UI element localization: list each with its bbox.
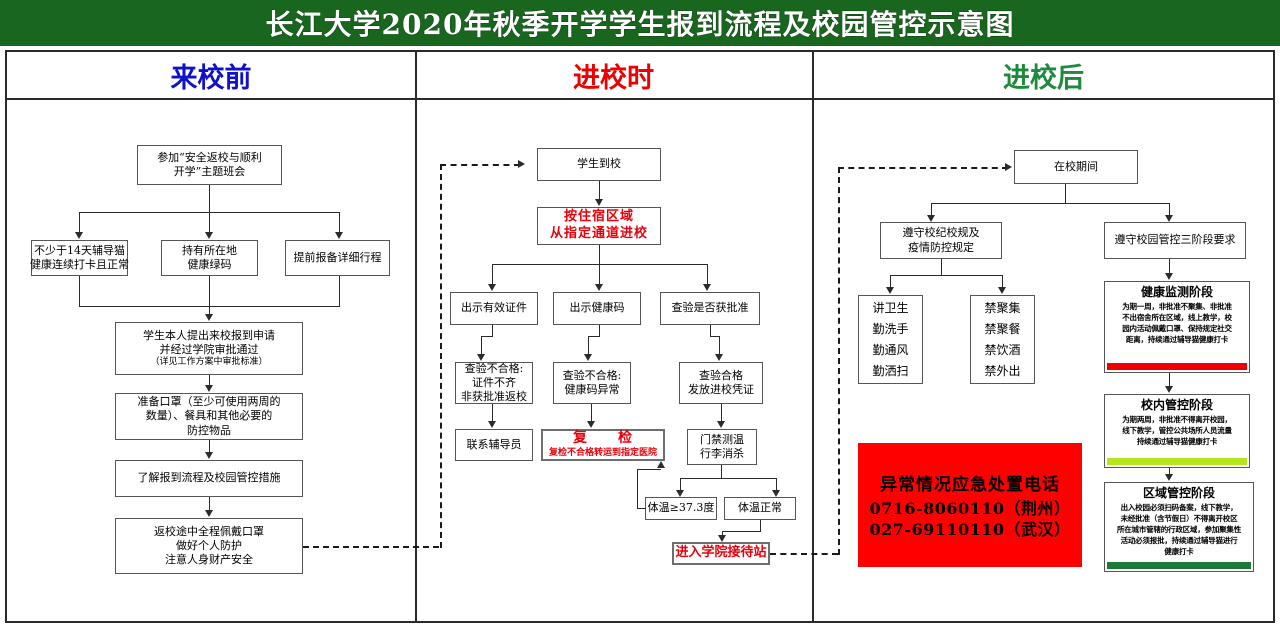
box-student-arrival: 学生到校 — [537, 148, 661, 181]
box-bans-list-line-1: 禁聚集 — [984, 298, 1020, 319]
column-divider-1 — [415, 52, 417, 621]
connector-check2-down — [588, 336, 589, 356]
box-three-stage-control: 遵守校园管控三阶段要求 — [1104, 222, 1246, 259]
stage-1-body-line-2: 不出宿舍所在区域，线上教学，校 — [1122, 313, 1232, 324]
emergency-phone-line-1: 0716-8060110（荆州） — [869, 499, 1070, 520]
connector-temphigh-to-recheck — [637, 469, 661, 470]
connector-temphigh-left — [637, 508, 646, 509]
box-stage-regional-control-title: 区域管控阶段 — [1143, 486, 1215, 501]
connector-check1-jog — [481, 336, 493, 337]
box-hygiene-list-line-1: 讲卫生 — [872, 298, 908, 319]
emergency-phone-heading: 异常情况应急处置电话 — [880, 470, 1060, 495]
box-check-approval: 查验是否获批准 — [660, 292, 760, 325]
box-travel-protection-line-2: 做好个人防护 — [176, 539, 242, 553]
dashed-riser-after — [838, 167, 840, 555]
arrow-to-check-3 — [703, 284, 711, 291]
box-stage-campus-control-title: 校内管控阶段 — [1141, 398, 1213, 413]
arrow-to-temp-high — [676, 490, 684, 497]
column-header-after-label: 进校后 — [1003, 56, 1084, 95]
connector-bus-left-leg — [79, 212, 80, 234]
box-contact-counselor: 联系辅导员 — [455, 429, 533, 461]
box-contact-counselor-line-1: 联系辅导员 — [467, 438, 522, 452]
connector-req2-down — [209, 276, 210, 307]
box-requirement-green-code-line-2: 健康绿码 — [188, 258, 232, 272]
arrow-to-stage-2 — [1165, 386, 1173, 393]
box-gate-entry-rule: 按住宿区域 从指定通道进校 — [537, 207, 661, 245]
emergency-phone-box: 异常情况应急处置电话 0716-8060110（荆州） 027-69110110… — [858, 443, 1082, 567]
box-result-pass-line-1: 查验合格 — [699, 369, 743, 383]
box-requirement-itinerary: 提前报备详细行程 — [285, 240, 390, 276]
box-result-id-fail: 查验不合格: 证件不齐 非获批准返校 — [455, 362, 533, 404]
connector-tempcheck-down — [721, 465, 722, 479]
column-header-entering-label: 进校时 — [573, 56, 654, 95]
connector-check1-leg — [492, 264, 493, 286]
connector-check3-leg — [707, 264, 708, 286]
box-orientation-meeting-line-2: 开学”主题班会 — [174, 165, 246, 179]
box-stage-health-monitoring: 健康监测阶段 为期一周，非批准不聚集、非批准 不出宿舍所在区域，线上教学，校 园… — [1104, 281, 1250, 373]
box-stage-health-monitoring-title: 健康监测阶段 — [1141, 285, 1213, 300]
box-campus-rules: 遵守校纪校规及 疫情防控规定 — [880, 222, 1002, 259]
box-college-reception: 进入学院接待站 — [672, 542, 770, 565]
connector-bus-after — [931, 203, 1170, 204]
box-temperature-high-line-1: 体温≥37.3度 — [648, 501, 715, 515]
stage-2-body-line-1: 为期两周，非批准不得离开校园， — [1122, 415, 1232, 426]
box-temperature-normal: 体温正常 — [724, 497, 796, 520]
box-hygiene-list: 讲卫生 勤洗手 勤通风 勤洒扫 — [858, 295, 923, 384]
box-result-code-fail-line-1: 查验不合格: — [563, 369, 622, 383]
box-on-campus-period: 在校期间 — [1014, 150, 1138, 184]
emergency-phone-line-2: 027-69110110（武汉） — [869, 520, 1070, 541]
column-divider-2 — [812, 52, 814, 621]
connector-start-down — [209, 185, 210, 213]
dashed-link-entering-to-after — [770, 553, 838, 555]
arrow-to-period — [1005, 163, 1012, 171]
box-orientation-meeting: 参加“安全返校与顺利 开学”主题班会 — [137, 145, 282, 185]
connector-temphigh-up — [637, 469, 638, 509]
box-three-stage-control-line-1: 遵守校园管控三阶段要求 — [1115, 233, 1236, 247]
dashed-link-to-arrival — [440, 164, 520, 166]
box-check-approval-line-1: 查验是否获批准 — [672, 301, 749, 315]
connector-arrival-down — [599, 181, 600, 201]
stage-1-body-line-1: 为期一周，非批准不聚集、非批准 — [1122, 302, 1232, 313]
box-application-approval-note: （详见工作方案中审批标准） — [150, 357, 267, 369]
header-divider — [7, 98, 1273, 100]
dashed-link-to-period — [838, 167, 1008, 169]
box-gate-entry-rule-line-1: 按住宿区域 — [564, 209, 634, 226]
stage-3-body-line-4: 活动必须报批，持续通过辅导猫进行 — [1117, 536, 1241, 547]
box-requirement-green-code: 持有所在地 健康绿码 — [161, 240, 258, 276]
stage-3-status-bar — [1107, 562, 1251, 569]
box-bans-list-line-3: 禁饮酒 — [984, 340, 1020, 361]
stage-2-body-line-2: 线下教学，管控公共场所人员流量 — [1122, 426, 1232, 437]
box-recheck-title: 复 检 — [573, 430, 633, 448]
box-requirement-green-code-line-1: 持有所在地 — [182, 244, 237, 258]
arrow-to-stage-3 — [1165, 474, 1173, 481]
box-orientation-meeting-line-1: 参加“安全返校与顺利 — [157, 151, 262, 165]
arrow-to-result-3 — [715, 354, 723, 361]
arrow-to-travel — [205, 510, 213, 517]
arrow-to-req-1 — [75, 232, 83, 239]
page-title: 长江大学2020年秋季开学学生报到流程及校园管控示意图 — [266, 3, 1015, 43]
arrow-to-req-3 — [335, 232, 343, 239]
box-check-health-code-line-1: 出示健康码 — [570, 301, 625, 315]
dashed-riser-entering — [440, 164, 442, 548]
connector-check2-jog — [588, 336, 600, 337]
stage-3-body-line-3: 所在城市管辖的行政区域，参加聚集性 — [1117, 525, 1241, 536]
box-hygiene-list-line-4: 勤洒扫 — [872, 361, 908, 382]
connector-period-down — [1065, 184, 1066, 204]
box-gate-temperature-check-line-1: 门禁测温 — [700, 433, 744, 447]
arrow-to-hygiene — [886, 287, 894, 294]
box-result-id-fail-line-2: 证件不齐 — [472, 376, 516, 390]
box-campus-rules-line-1: 遵守校纪校规及 — [903, 226, 980, 240]
box-stage-campus-control: 校内管控阶段 为期两周，非批准不得离开校园， 线下教学，管控公共场所人员流量 持… — [1104, 394, 1250, 468]
arrow-to-req-2 — [205, 232, 213, 239]
box-travel-protection-line-3: 注意人身财产安全 — [165, 553, 253, 567]
box-stage-regional-control: 区域管控阶段 出入校园必须扫码备案，线下教学， 未经批准（含节假日）不得离开校区… — [1104, 482, 1254, 572]
title-banner: 长江大学2020年秋季开学学生报到流程及校园管控示意图 — [0, 0, 1280, 46]
dashed-link-before-to-entering — [303, 546, 439, 548]
box-travel-protection-line-1: 返校途中全程佩戴口罩 — [154, 525, 264, 539]
arrow-to-supplies — [205, 385, 213, 392]
box-learn-procedure: 了解报到流程及校园管控措施 — [115, 460, 303, 497]
stage-1-body-line-4: 距离，持续通过辅导猫健康打卡 — [1122, 335, 1232, 346]
arrow-to-approval — [205, 314, 213, 321]
connector-req1-down — [79, 276, 80, 307]
arrow-to-recheck — [587, 421, 595, 428]
stage-1-body-line-3: 园内活动佩戴口罩、保持规定社交 — [1122, 324, 1232, 335]
arrow-to-learn — [205, 452, 213, 459]
box-application-approval: 学生本人提出来校报到申请 并经过学院审批通过 （详见工作方案中审批标准） — [115, 322, 303, 375]
box-bans-list: 禁聚集 禁聚餐 禁饮酒 禁外出 — [970, 295, 1035, 384]
connector-check2-leg — [599, 264, 600, 286]
connector-rules-down — [941, 259, 942, 276]
box-requirement-itinerary-line-1: 提前报备详细行程 — [294, 251, 382, 265]
box-stage-health-monitoring-body: 为期一周，非批准不聚集、非批准 不出宿舍所在区域，线上教学，校 园内活动佩戴口罩… — [1122, 302, 1232, 346]
box-prepare-supplies-line-3: 防控物品 — [187, 424, 231, 438]
box-travel-protection: 返校途中全程佩戴口罩 做好个人防护 注意人身财产安全 — [115, 518, 303, 574]
connector-tempnormal-left — [722, 531, 761, 532]
box-gate-entry-rule-line-2: 从指定通道进校 — [550, 226, 648, 243]
box-campus-rules-line-2: 疫情防控规定 — [908, 241, 974, 255]
box-prepare-supplies-line-2: 数量）、餐具和其他必要的 — [146, 409, 273, 423]
arrow-to-arrival — [518, 160, 525, 168]
box-result-code-fail: 查验不合格: 健康码异常 — [553, 362, 631, 404]
column-header-entering: 进校时 — [415, 52, 812, 98]
box-learn-procedure-line-1: 了解报到流程及校园管控措施 — [138, 471, 281, 485]
arrow-to-check-2 — [595, 284, 603, 291]
box-gate-temperature-check-line-2: 行李消杀 — [700, 447, 744, 461]
stage-3-body-line-1: 出入校园必须扫码备案，线下教学， — [1117, 503, 1241, 514]
column-header-after: 进校后 — [812, 52, 1275, 98]
box-result-id-fail-line-1: 查验不合格: — [465, 362, 524, 376]
connector-gate-down — [599, 245, 600, 265]
stage-3-body-line-5: 健康打卡 — [1117, 547, 1241, 558]
connector-bus-mid-leg — [209, 212, 210, 234]
connector-req3-down — [339, 276, 340, 307]
box-hygiene-list-line-2: 勤洗手 — [872, 319, 908, 340]
box-bans-list-line-2: 禁聚餐 — [984, 319, 1020, 340]
connector-bus-temp — [680, 478, 777, 479]
arrow-to-result-2 — [584, 354, 592, 361]
connector-bus-right-leg — [339, 212, 340, 234]
box-temperature-normal-line-1: 体温正常 — [738, 501, 782, 515]
box-requirement-health-checkin-line-2: 健康连续打卡且正常 — [30, 258, 129, 272]
box-on-campus-period-line-1: 在校期间 — [1054, 160, 1098, 174]
box-hygiene-list-line-3: 勤通风 — [872, 340, 908, 361]
box-result-pass: 查验合格 发放进校凭证 — [679, 362, 763, 404]
box-temperature-high: 体温≥37.3度 — [645, 497, 717, 520]
box-requirement-health-checkin: 不少于14天辅导猫 健康连续打卡且正常 — [31, 240, 128, 276]
box-check-id-line-1: 出示有效证件 — [461, 301, 527, 315]
arrow-to-temp-check — [717, 421, 725, 428]
connector-check3-down — [719, 336, 720, 356]
arrow-to-gate-rule — [595, 199, 603, 206]
arrow-to-check-1 — [488, 284, 496, 291]
box-prepare-supplies-line-1: 准备口罩（至少可使用两周的 — [138, 395, 281, 409]
box-check-health-code: 出示健康码 — [553, 292, 641, 325]
box-stage-campus-control-body: 为期两周，非批准不得离开校园， 线下教学，管控公共场所人员流量 持续通过辅导猫健… — [1122, 415, 1232, 448]
arrow-to-bans — [998, 287, 1006, 294]
box-result-id-fail-line-3: 非获批准返校 — [461, 390, 527, 404]
box-application-approval-line-1: 学生本人提出来校报到申请 — [143, 329, 275, 343]
box-result-code-fail-line-2: 健康码异常 — [565, 383, 620, 397]
box-prepare-supplies: 准备口罩（至少可使用两周的 数量）、餐具和其他必要的 防控物品 — [115, 393, 303, 440]
box-recheck: 复 检 复检不合格转运到指定医院 — [541, 429, 665, 461]
box-student-arrival-line-1: 学生到校 — [577, 157, 621, 171]
stage-1-status-bar — [1107, 363, 1247, 370]
arrow-to-stage-1 — [1165, 273, 1173, 280]
arrow-to-temp-normal — [772, 490, 780, 497]
arrow-to-result-1 — [477, 354, 485, 361]
box-stage-regional-control-body: 出入校园必须扫码备案，线下教学， 未经批准（含节假日）不得离开校区 所在城市管辖… — [1117, 503, 1241, 557]
arrow-to-control — [1165, 215, 1173, 222]
box-recheck-subtitle: 复检不合格转运到指定医院 — [549, 448, 657, 460]
column-header-before-label: 来校前 — [171, 56, 252, 95]
box-gate-temperature-check: 门禁测温 行李消杀 — [687, 429, 757, 465]
box-check-id: 出示有效证件 — [450, 292, 538, 325]
connector-check1-down — [481, 336, 482, 356]
stage-2-status-bar — [1107, 458, 1247, 465]
arrow-to-rules — [927, 215, 935, 222]
box-bans-list-line-4: 禁外出 — [984, 361, 1020, 382]
column-header-before: 来校前 — [7, 52, 415, 98]
stage-3-body-line-2: 未经批准（含节假日）不得离开校区 — [1117, 514, 1241, 525]
connector-bus-lists — [890, 275, 1003, 276]
box-result-pass-line-2: 发放进校凭证 — [688, 383, 754, 397]
diagram-root: 长江大学2020年秋季开学学生报到流程及校园管控示意图 来校前 进校时 进校后 … — [0, 0, 1280, 628]
arrow-to-contact-counselor — [488, 421, 496, 428]
arrow-to-recheck-from-temp — [657, 461, 665, 468]
box-application-approval-line-2: 并经过学院审批通过 — [160, 343, 259, 357]
arrow-to-reception — [718, 535, 726, 542]
box-requirement-health-checkin-line-1: 不少于14天辅导猫 — [34, 244, 125, 258]
stage-2-body-line-3: 持续通过辅导猫健康打卡 — [1122, 437, 1232, 448]
box-college-reception-line-1: 进入学院接待站 — [676, 545, 767, 562]
